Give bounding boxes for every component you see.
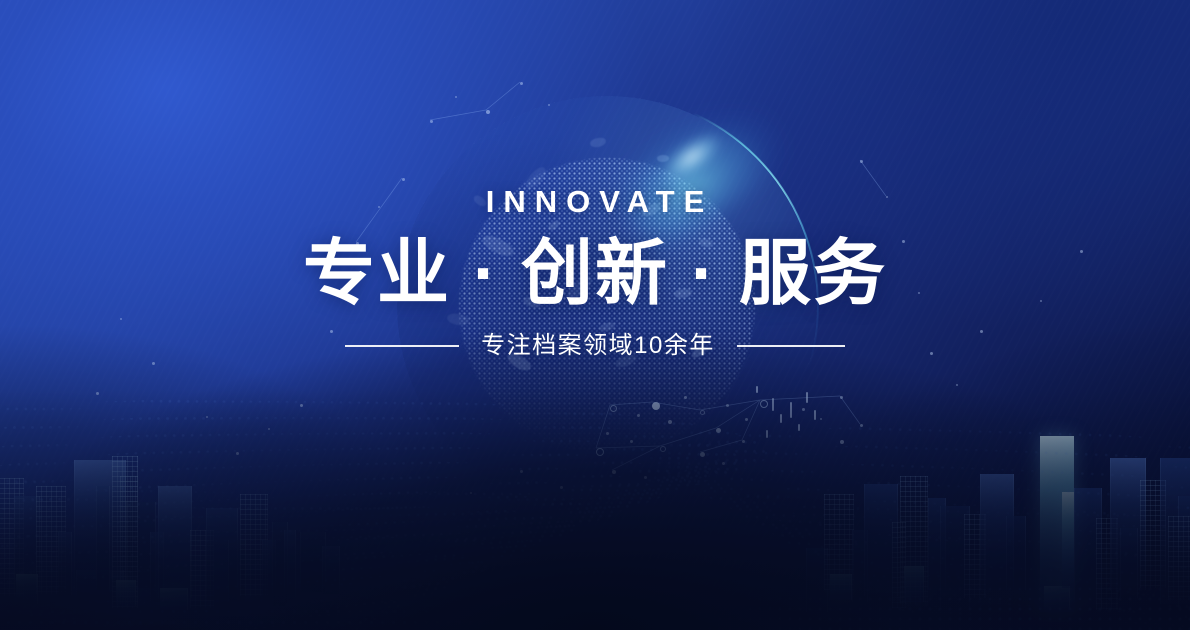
- hero-banner: INNOVATE 专业 · 创新 · 服务 专注档案领域10余年: [0, 0, 1190, 630]
- banner-copy: INNOVATE 专业 · 创新 · 服务 专注档案领域10余年: [0, 186, 1190, 358]
- eyebrow-text: INNOVATE: [0, 186, 1190, 217]
- subtitle-text: 专注档案领域10余年: [481, 334, 715, 358]
- divider-rule-right: [737, 345, 845, 347]
- divider-rule-left: [345, 345, 459, 347]
- page-title: 专业 · 创新 · 服务: [0, 236, 1190, 312]
- subtitle-row: 专注档案领域10余年: [0, 334, 1190, 358]
